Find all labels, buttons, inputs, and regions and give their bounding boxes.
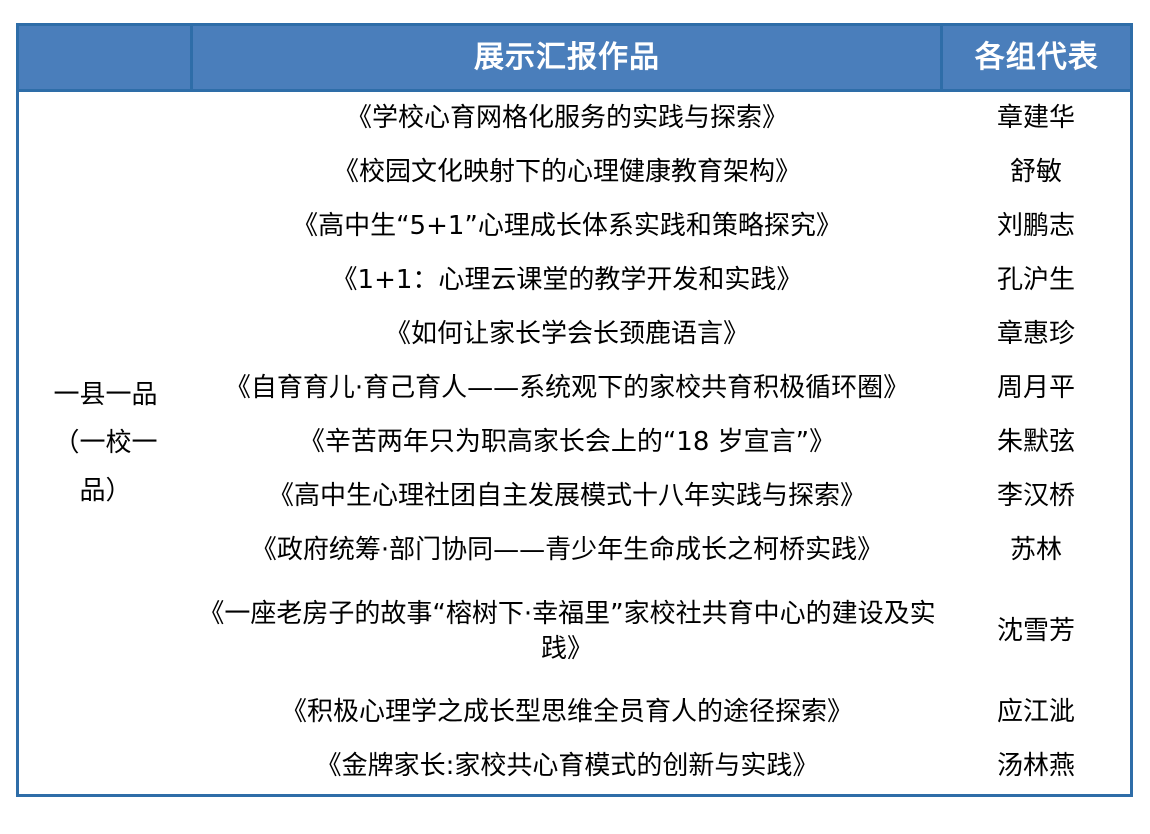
- work-title: 《校园文化映射下的心理健康教育架构》: [192, 155, 942, 190]
- representative-name: 沈雪芳: [942, 614, 1130, 649]
- representative-name: 应江泚: [942, 695, 1130, 730]
- representative-name: 汤林燕: [942, 749, 1130, 784]
- representative-cell: 刘鹏志: [942, 200, 1132, 254]
- header-cell-works: 展示汇报作品: [192, 25, 942, 91]
- work-cell: 《校园文化映射下的心理健康教育架构》: [192, 146, 942, 200]
- representative-cell: 朱默弦: [942, 416, 1132, 470]
- work-title: 《高中生“5+1”心理成长体系实践和策略探究》: [192, 209, 942, 244]
- category-label: 一县一品 （一校一 品）: [19, 371, 192, 515]
- work-cell: 《自育育儿·育己育人——系统观下的家校共育积极循环圈》: [192, 362, 942, 416]
- header-cell-representative: 各组代表: [942, 25, 1132, 91]
- representative-name: 舒敏: [942, 155, 1130, 190]
- report-table-container: 展示汇报作品 各组代表 一县一品 （一校一 品） 《学校心育网格化服务的实践与探…: [16, 23, 1133, 797]
- representative-name: 李汉桥: [942, 479, 1130, 514]
- representative-cell: 周月平: [942, 362, 1132, 416]
- representative-cell: 舒敏: [942, 146, 1132, 200]
- work-cell: 《学校心育网格化服务的实践与探索》: [192, 91, 942, 147]
- table-header: 展示汇报作品 各组代表: [18, 25, 1132, 91]
- work-title: 《1+1：心理云课堂的教学开发和实践》: [192, 263, 942, 298]
- representative-cell: 应江泚: [942, 686, 1132, 740]
- representative-cell: 章惠珍: [942, 308, 1132, 362]
- representative-cell: 汤林燕: [942, 740, 1132, 796]
- work-title: 《积极心理学之成长型思维全员育人的途径探索》: [192, 695, 942, 730]
- representative-name: 刘鹏志: [942, 209, 1130, 244]
- representative-cell: 苏林: [942, 524, 1132, 578]
- work-cell: 《政府统筹·部门协同——青少年生命成长之柯桥实践》: [192, 524, 942, 578]
- works-representatives-table: 展示汇报作品 各组代表 一县一品 （一校一 品） 《学校心育网格化服务的实践与探…: [16, 23, 1133, 797]
- header-cell-category: [18, 25, 192, 91]
- work-title: 《辛苦两年只为职高家长会上的“18 岁宣言”》: [192, 425, 942, 460]
- table-header-row: 展示汇报作品 各组代表: [18, 25, 1132, 91]
- work-title: 《金牌家长:家校共心育模式的创新与实践》: [192, 749, 942, 784]
- work-cell: 《金牌家长:家校共心育模式的创新与实践》: [192, 740, 942, 796]
- work-title: 《自育育儿·育己育人——系统观下的家校共育积极循环圈》: [192, 371, 942, 406]
- work-title: 《高中生心理社团自主发展模式十八年实践与探索》: [192, 479, 942, 514]
- work-cell: 《辛苦两年只为职高家长会上的“18 岁宣言”》: [192, 416, 942, 470]
- representative-name: 周月平: [942, 371, 1130, 406]
- work-title: 《政府统筹·部门协同——青少年生命成长之柯桥实践》: [192, 533, 942, 568]
- work-title: 《学校心育网格化服务的实践与探索》: [192, 101, 942, 136]
- representative-name: 章建华: [942, 101, 1130, 136]
- work-cell: 《积极心理学之成长型思维全员育人的途径探索》: [192, 686, 942, 740]
- work-cell: 《1+1：心理云课堂的教学开发和实践》: [192, 254, 942, 308]
- work-title: 《一座老房子的故事“榕树下·幸福里”家校社共育中心的建设及实践》: [192, 597, 942, 667]
- category-cell: 一县一品 （一校一 品）: [18, 91, 192, 796]
- table-body: 一县一品 （一校一 品） 《学校心育网格化服务的实践与探索》 章建华 《校园文化…: [18, 91, 1132, 796]
- representative-name: 章惠珍: [942, 317, 1130, 352]
- work-cell: 《高中生心理社团自主发展模式十八年实践与探索》: [192, 470, 942, 524]
- work-title: 《如何让家长学会长颈鹿语言》: [192, 317, 942, 352]
- representative-cell: 孔沪生: [942, 254, 1132, 308]
- representative-name: 朱默弦: [942, 425, 1130, 460]
- work-cell: 《高中生“5+1”心理成长体系实践和策略探究》: [192, 200, 942, 254]
- table-row: 一县一品 （一校一 品） 《学校心育网格化服务的实践与探索》 章建华: [18, 91, 1132, 147]
- work-cell: 《一座老房子的故事“榕树下·幸福里”家校社共育中心的建设及实践》: [192, 578, 942, 686]
- representative-cell: 李汉桥: [942, 470, 1132, 524]
- representative-name: 苏林: [942, 533, 1130, 568]
- work-cell: 《如何让家长学会长颈鹿语言》: [192, 308, 942, 362]
- representative-cell: 章建华: [942, 91, 1132, 147]
- representative-cell: 沈雪芳: [942, 578, 1132, 686]
- representative-name: 孔沪生: [942, 263, 1130, 298]
